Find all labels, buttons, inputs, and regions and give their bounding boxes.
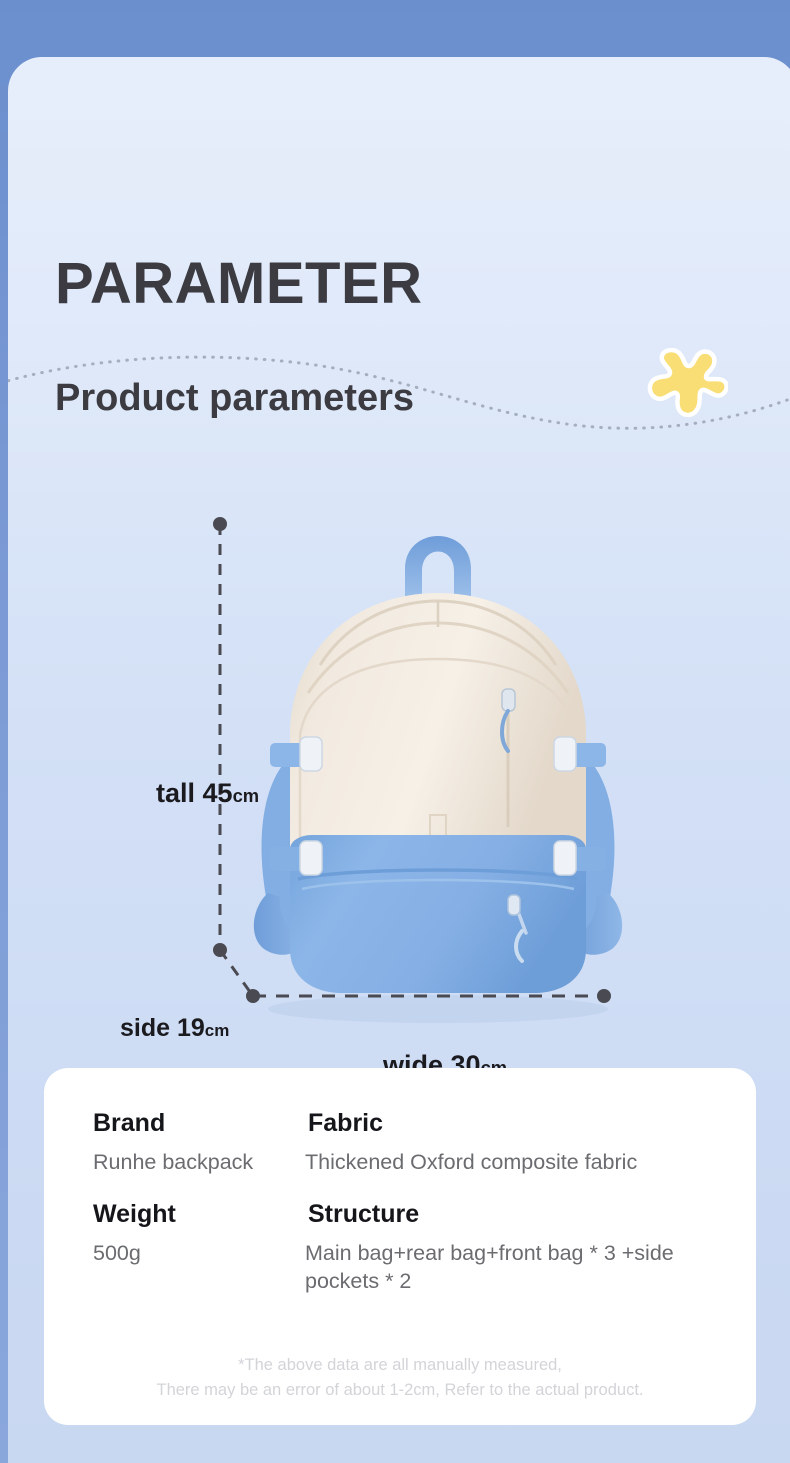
spec-key-fabric: Fabric	[305, 1108, 733, 1139]
spec-key-brand: Brand	[93, 1108, 305, 1139]
product-parameter-page: PARAMETER Product parameters	[0, 0, 790, 1463]
spec-cell-weight: Weight 500g	[93, 1199, 305, 1296]
specification-grid: Brand Runhe backpack Fabric Thickened Ox…	[93, 1108, 733, 1296]
specification-card: Brand Runhe backpack Fabric Thickened Ox…	[44, 1068, 756, 1425]
dimension-depth-label: side 19cm	[120, 1016, 229, 1041]
spec-value-weight: 500g	[93, 1239, 305, 1267]
backpack-illustration	[208, 497, 668, 1037]
spec-value-fabric: Thickened Oxford composite fabric	[305, 1148, 733, 1176]
dimension-depth-unit: cm	[205, 1021, 230, 1040]
dimension-height-unit: cm	[233, 785, 260, 806]
spec-cell-structure: Structure Main bag+rear bag+front bag * …	[305, 1199, 733, 1296]
yellow-star-blob-icon	[642, 348, 728, 422]
footnote-line-2: There may be an error of about 1-2cm, Re…	[44, 1378, 756, 1403]
spec-row: Brand Runhe backpack Fabric Thickened Ox…	[93, 1108, 733, 1177]
spec-key-structure: Structure	[305, 1199, 733, 1230]
footnote-line-1: *The above data are all manually measure…	[44, 1353, 756, 1378]
content-panel: PARAMETER Product parameters	[8, 57, 790, 1463]
dimension-depth-value: 19	[177, 1014, 205, 1042]
spec-row: Weight 500g Structure Main bag+rear bag+…	[93, 1199, 733, 1296]
dimension-height-text: tall	[156, 778, 203, 808]
dimension-depth-text: side	[120, 1014, 177, 1042]
spec-value-structure: Main bag+rear bag+front bag * 3 +side po…	[305, 1239, 733, 1296]
measurement-footnote: *The above data are all manually measure…	[44, 1353, 756, 1403]
spec-value-brand: Runhe backpack	[93, 1148, 305, 1176]
page-title: PARAMETER	[55, 255, 423, 313]
spec-cell-fabric: Fabric Thickened Oxford composite fabric	[305, 1108, 733, 1177]
page-subtitle: Product parameters	[55, 379, 414, 417]
dimension-height-label: tall 45cm	[156, 780, 259, 807]
spec-key-weight: Weight	[93, 1199, 305, 1230]
dimension-height-value: 45	[203, 778, 233, 808]
spec-cell-brand: Brand Runhe backpack	[93, 1108, 305, 1177]
